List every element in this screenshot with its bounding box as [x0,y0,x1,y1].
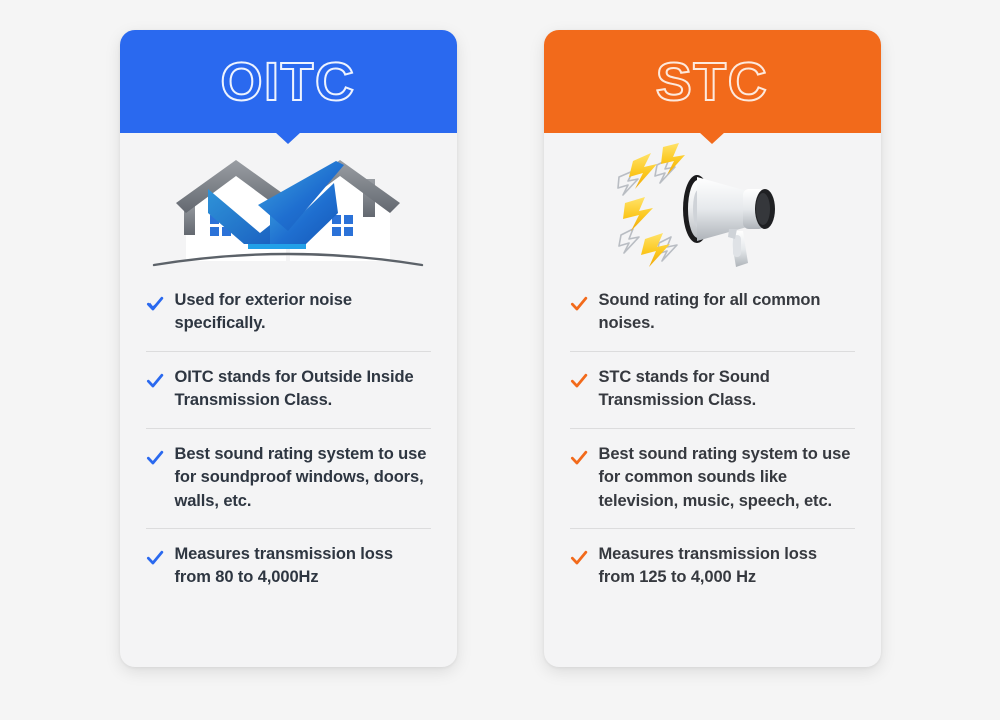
houses-with-blue-checkmark-icon [148,143,428,271]
orange-check-icon [570,372,588,390]
bullet-item: Measures transmission loss from 125 to 4… [566,529,859,605]
bullet-item: STC stands for Sound Transmission Class. [566,352,859,428]
bullet-item: Used for exterior noise specifically. [142,275,435,351]
orange-check-icon [570,449,588,467]
header-notch-oitc [275,132,301,144]
card-header-stc: STC [544,30,881,133]
bullet-text: Used for exterior noise specifically. [175,289,431,336]
comparison-infographic: OITC [0,0,1000,720]
bullet-item: Best sound rating system to use for comm… [566,429,859,528]
bullet-item: Sound rating for all common noises. [566,275,859,351]
bullet-text: Measures transmission loss from 80 to 4,… [175,543,431,590]
blue-check-icon [146,295,164,313]
bullet-text: OITC stands for Outside Inside Transmiss… [175,366,431,413]
bullet-text: STC stands for Sound Transmission Class. [599,366,855,413]
bullet-list-stc: Sound rating for all common noises. STC … [544,275,881,667]
bullet-list-oitc: Used for exterior noise specifically. OI… [120,275,457,667]
illustration-oitc [120,133,457,275]
bullet-text: Best sound rating system to use for soun… [175,443,431,513]
header-notch-stc [699,132,725,144]
bullet-item: OITC stands for Outside Inside Transmiss… [142,352,435,428]
illustration-stc [544,133,881,275]
megaphone-with-lightning-bolts-icon [597,143,827,271]
blue-check-icon [146,449,164,467]
card-stc: STC [544,30,881,667]
bullet-item: Best sound rating system to use for soun… [142,429,435,528]
card-header-oitc: OITC [120,30,457,133]
card-oitc: OITC [120,30,457,667]
bullet-item: Measures transmission loss from 80 to 4,… [142,529,435,605]
orange-check-icon [570,295,588,313]
bullet-text: Measures transmission loss from 125 to 4… [599,543,855,590]
blue-check-icon [146,372,164,390]
bullet-text: Best sound rating system to use for comm… [599,443,855,513]
card-title-oitc: OITC [221,55,356,109]
blue-check-icon [146,549,164,567]
bullet-text: Sound rating for all common noises. [599,289,855,336]
card-title-stc: STC [656,55,769,109]
orange-check-icon [570,549,588,567]
